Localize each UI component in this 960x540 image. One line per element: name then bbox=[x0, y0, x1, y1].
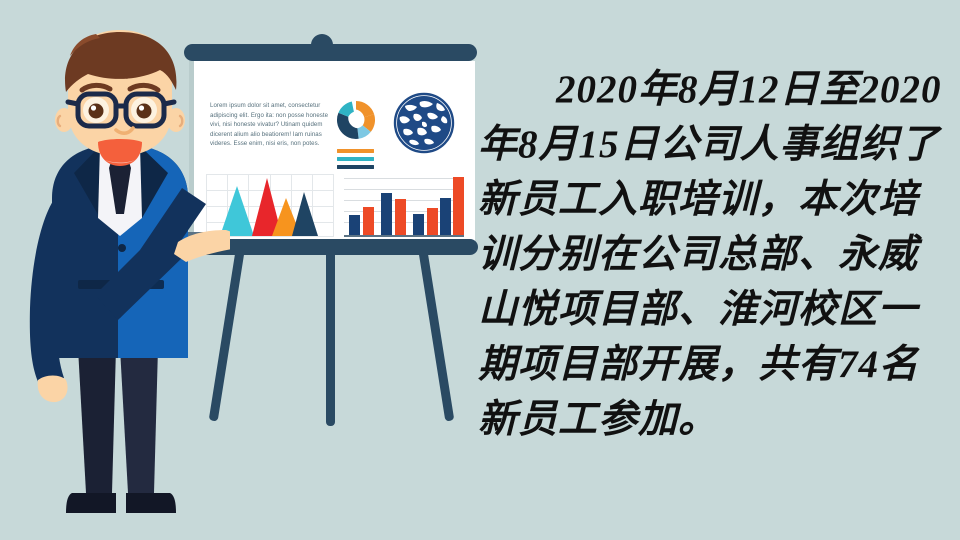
bar-g1-orange bbox=[363, 207, 374, 235]
legs bbox=[78, 348, 158, 493]
board-content: Lorem ipsum dolor sit amet, consectetur … bbox=[194, 61, 475, 241]
slide-canvas: Lorem ipsum dolor sit amet, consectetur … bbox=[0, 0, 960, 540]
presenter-character bbox=[0, 18, 230, 540]
mini-bar-orange bbox=[337, 149, 374, 153]
mini-bar-teal bbox=[337, 157, 374, 161]
bar-g1-navy bbox=[349, 215, 360, 235]
bar-g2-orange bbox=[395, 199, 406, 235]
shoes bbox=[66, 493, 176, 513]
caption-body-text: 2020年8月12日至2020年8月15日公司人事组织了新员工入职培训，本次培训… bbox=[478, 62, 950, 447]
bar-g3-orange bbox=[427, 208, 438, 235]
bar-chart-baseline bbox=[344, 235, 464, 237]
mini-bar-navy bbox=[337, 165, 374, 169]
bar-g4-orange bbox=[453, 177, 464, 235]
easel-leg-right bbox=[418, 247, 454, 421]
bar-g3-navy bbox=[413, 214, 424, 235]
bar-chart bbox=[344, 174, 464, 237]
head bbox=[65, 30, 176, 166]
donut-chart-icon bbox=[335, 99, 377, 141]
easel-knob bbox=[311, 34, 333, 56]
chinese-caption-panel: 2020年8月12日至2020年8月15日公司人事组织了新员工入职培训，本次培训… bbox=[478, 62, 950, 482]
bar-g4-navy bbox=[440, 198, 451, 235]
bar-g2-navy bbox=[381, 193, 392, 235]
easel-leg-middle bbox=[326, 248, 335, 426]
globe-icon bbox=[393, 92, 455, 154]
